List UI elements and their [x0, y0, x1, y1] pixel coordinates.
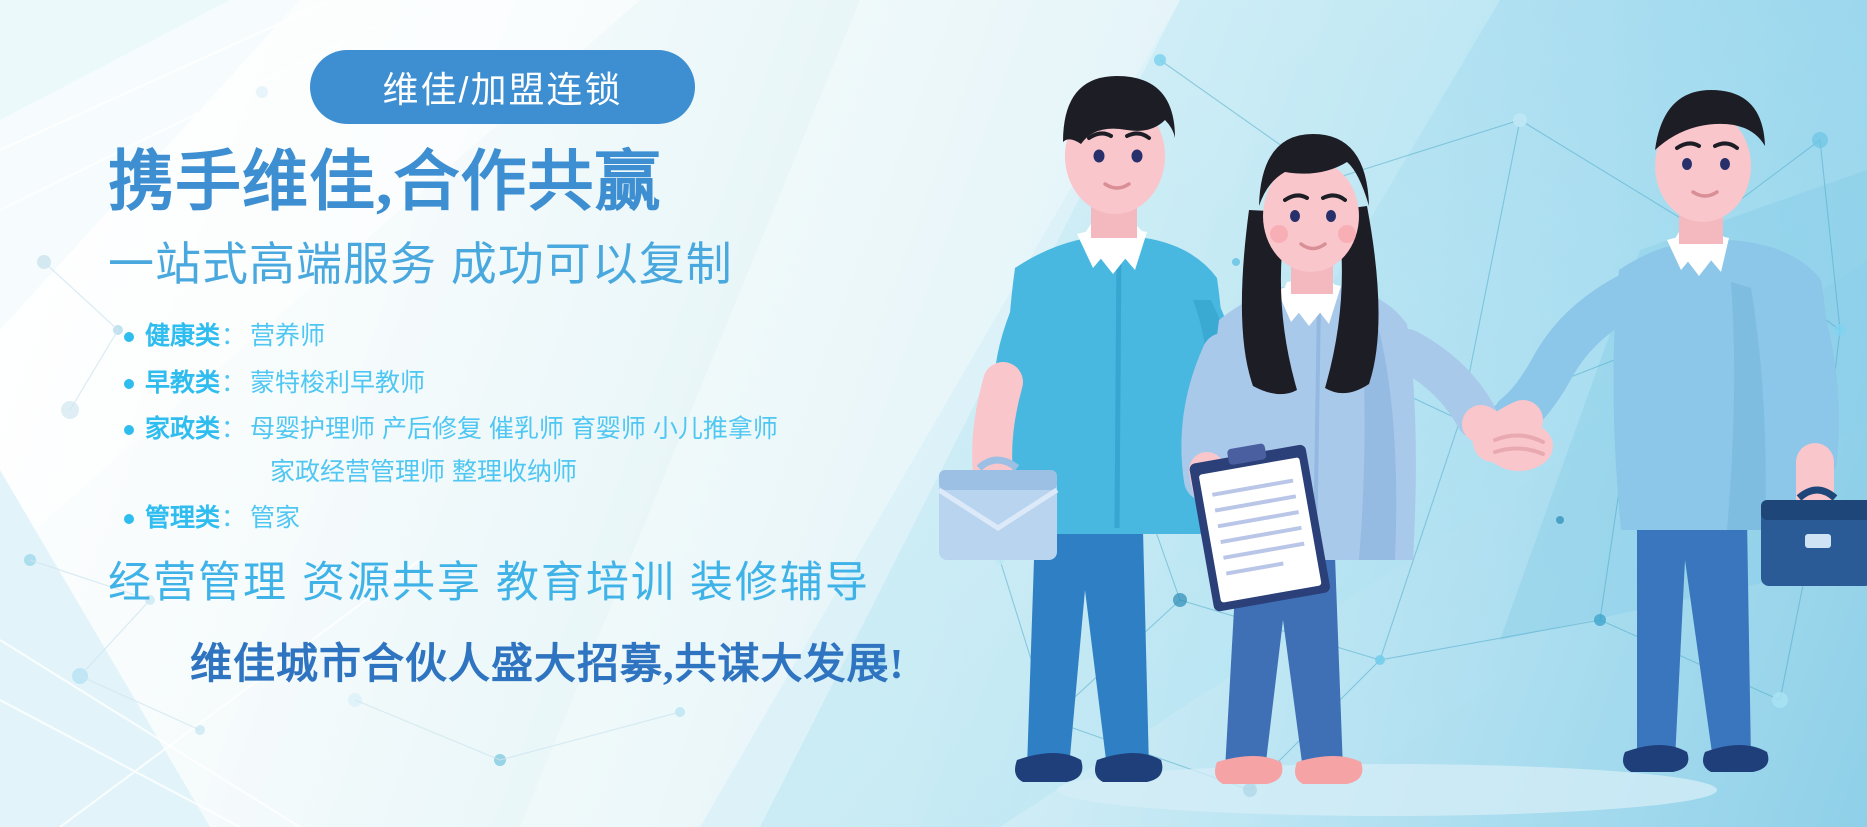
category-colon: ： — [221, 411, 246, 449]
category-items-continued: 家政经营管理师 整理收纳师 — [270, 454, 924, 492]
category-items: 蒙特梭利早教师 — [250, 365, 425, 403]
category-row-health: 健康类 ： 营养师 — [124, 318, 924, 356]
category-label: 早教类 — [145, 365, 220, 403]
category-list: 健康类 ： 营养师 早教类 ： 蒙特梭利早教师 家政类 ： 母婴护理师 产后修复… — [124, 318, 924, 547]
headline: 携手维佳,合作共赢 — [108, 148, 662, 217]
person-woman-center — [1187, 134, 1553, 784]
bullet-dot-icon — [124, 425, 134, 435]
bullet-dot-icon — [124, 332, 134, 342]
subheadline: 一站式高端服务 成功可以复制 — [108, 228, 733, 294]
category-label: 家政类 — [145, 411, 220, 449]
recruitment-call-to-action: 维佳城市合伙人盛大招募,共谋大发展! — [190, 630, 905, 691]
category-row-management: 管理类 ： 管家 — [124, 500, 924, 538]
promo-banner: 维佳/加盟连锁 携手维佳,合作共赢 一站式高端服务 成功可以复制 健康类 ： 营… — [0, 0, 1867, 827]
category-colon: ： — [221, 365, 246, 403]
category-label: 管理类 — [145, 500, 220, 538]
category-colon: ： — [221, 500, 246, 538]
bullet-dot-icon — [124, 514, 134, 524]
category-label: 健康类 — [145, 318, 220, 356]
category-row-housekeeping: 家政类 ： 母婴护理师 产后修复 催乳师 育婴师 小儿推拿师 — [124, 411, 924, 449]
category-row-early-education: 早教类 ： 蒙特梭利早教师 — [124, 365, 924, 403]
category-items: 管家 — [250, 500, 300, 538]
banner-content: 维佳/加盟连锁 携手维佳,合作共赢 一站式高端服务 成功可以复制 健康类 ： 营… — [0, 0, 960, 827]
services-line: 经营管理 资源共享 教育培训 装修辅导 — [108, 548, 870, 610]
bullet-dot-icon — [124, 379, 134, 389]
category-colon: ： — [221, 318, 246, 356]
brand-badge-label: 维佳/加盟连锁 — [382, 61, 622, 113]
category-items: 营养师 — [250, 318, 325, 356]
people-illustration — [867, 0, 1867, 827]
person-man-right — [1493, 90, 1867, 772]
brand-badge: 维佳/加盟连锁 — [310, 50, 695, 124]
category-items: 母婴护理师 产后修复 催乳师 育婴师 小儿推拿师 — [250, 411, 778, 449]
